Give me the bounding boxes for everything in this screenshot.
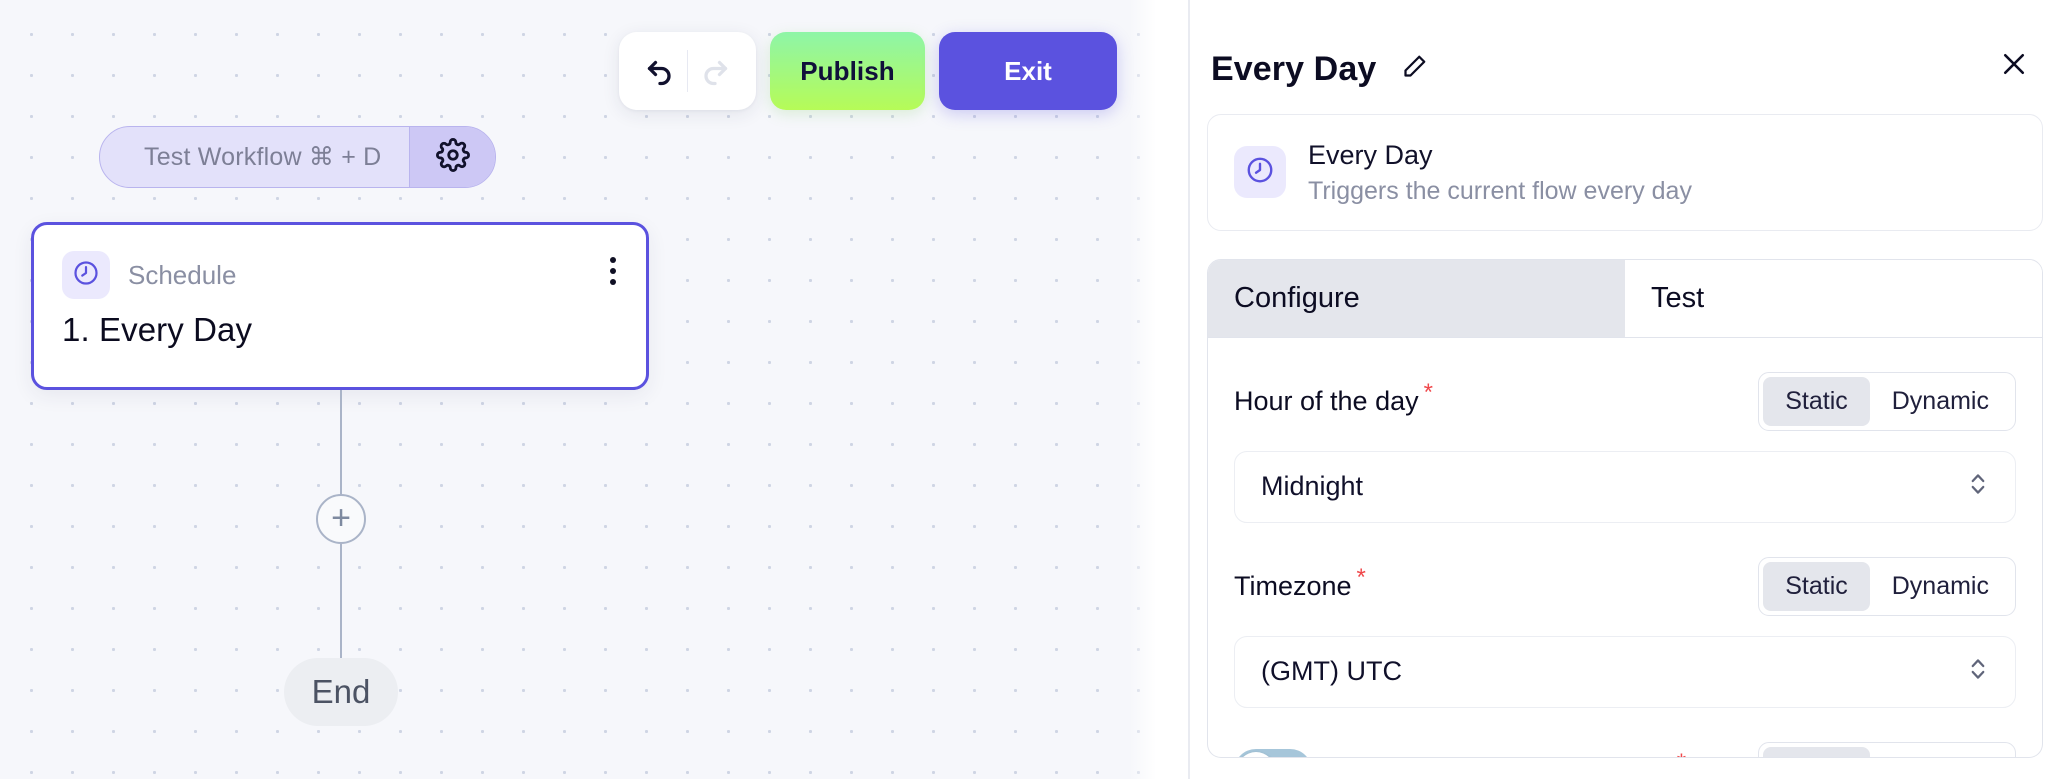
trigger-icon-wrapper xyxy=(1234,146,1286,198)
trigger-description: Triggers the current flow every day xyxy=(1308,177,1692,206)
step-settings-panel: Every Day xyxy=(1155,0,2072,779)
required-asterisk: * xyxy=(1424,379,1433,406)
timezone-select[interactable]: (GMT) UTC xyxy=(1234,636,2016,708)
required-asterisk: * xyxy=(1677,749,1686,758)
field-label-hour-text: Hour of the day xyxy=(1234,386,1419,416)
chevron-up-down-icon xyxy=(1967,654,1989,689)
panel-header: Every Day xyxy=(1155,0,2043,100)
undo-arrow-icon xyxy=(642,52,678,91)
chevron-up-down-icon xyxy=(1967,469,1989,504)
field-label-timezone-text: Timezone xyxy=(1234,571,1352,601)
mode-dynamic-timezone[interactable]: Dynamic xyxy=(1870,562,2011,611)
workflow-editor: Publish Exit Test Workflow ⌘ + D xyxy=(0,0,2072,779)
test-workflow-button[interactable]: Test Workflow ⌘ + D xyxy=(99,126,496,188)
field-label-weekends-text: Run on weekends (Sat,Sun) xyxy=(1334,756,1672,758)
field-label-timezone: Timezone* xyxy=(1234,571,1366,602)
mode-toggle-hour: Static Dynamic xyxy=(1758,372,2016,431)
undo-button[interactable] xyxy=(633,41,687,101)
hour-select[interactable]: Midnight xyxy=(1234,451,2016,523)
tab-test[interactable]: Test xyxy=(1625,260,2042,337)
timezone-select-value: (GMT) UTC xyxy=(1261,656,1402,687)
canvas-toolbar: Publish Exit xyxy=(619,32,1117,110)
exit-button[interactable]: Exit xyxy=(939,32,1117,110)
hour-select-value: Midnight xyxy=(1261,471,1363,502)
mode-static-timezone[interactable]: Static xyxy=(1763,562,1870,611)
gear-icon xyxy=(436,138,470,177)
node-type-icon xyxy=(62,251,110,299)
field-run-on-weekends: Run on weekends (Sat,Sun)* Static Dynami… xyxy=(1234,708,2016,758)
pencil-edit-icon xyxy=(1398,53,1428,86)
redo-arrow-icon xyxy=(697,52,733,91)
clock-icon xyxy=(72,259,100,292)
edge-bottom-segment xyxy=(340,544,342,659)
close-x-icon xyxy=(1999,49,2029,82)
field-label-weekends: Run on weekends (Sat,Sun)* xyxy=(1334,756,1686,758)
configure-fields: Hour of the day* Static Dynamic Midnight xyxy=(1207,338,2043,758)
add-step-button[interactable]: + xyxy=(316,494,366,544)
field-hour-of-the-day: Hour of the day* Static Dynamic Midnight xyxy=(1234,338,2016,523)
rename-step-button[interactable] xyxy=(1394,49,1432,90)
toggle-knob xyxy=(1237,752,1275,758)
node-header: Schedule xyxy=(34,225,646,299)
workflow-canvas[interactable]: Publish Exit Test Workflow ⌘ + D xyxy=(0,0,1155,779)
workflow-node-every-day[interactable]: Schedule 1. Every Day xyxy=(31,222,649,390)
undo-redo-group xyxy=(619,32,756,110)
mode-static-hour[interactable]: Static xyxy=(1763,377,1870,426)
mode-dynamic-weekends[interactable]: Dynamic xyxy=(1870,747,2011,758)
workflow-settings-button[interactable] xyxy=(409,127,495,187)
publish-button[interactable]: Publish xyxy=(770,32,925,110)
field-label-hour: Hour of the day* xyxy=(1234,386,1433,417)
panel-tabs: Configure Test xyxy=(1207,259,2043,338)
field-timezone: Timezone* Static Dynamic (GMT) UTC xyxy=(1234,523,2016,708)
clock-icon xyxy=(1245,155,1275,190)
test-workflow-label: Test Workflow ⌘ + D xyxy=(100,127,409,187)
mode-toggle-weekends: Static Dynamic xyxy=(1758,742,2016,758)
mode-static-weekends[interactable]: Static xyxy=(1763,747,1870,758)
node-kebab-menu-button[interactable] xyxy=(606,253,620,289)
run-on-weekends-toggle[interactable] xyxy=(1234,749,1312,758)
node-title: 1. Every Day xyxy=(34,299,646,349)
node-subtitle: Schedule xyxy=(128,260,236,291)
tab-configure[interactable]: Configure xyxy=(1208,260,1625,337)
required-asterisk: * xyxy=(1357,564,1366,591)
edge-top-segment xyxy=(340,390,342,496)
redo-button[interactable] xyxy=(688,41,742,101)
trigger-name: Every Day xyxy=(1308,139,1692,173)
trigger-summary-card: Every Day Triggers the current flow ever… xyxy=(1207,114,2043,231)
end-node[interactable]: End xyxy=(284,658,398,726)
mode-dynamic-hour[interactable]: Dynamic xyxy=(1870,377,2011,426)
mode-toggle-timezone: Static Dynamic xyxy=(1758,557,2016,616)
panel-title: Every Day xyxy=(1211,50,1376,89)
close-panel-button[interactable] xyxy=(1993,44,2035,86)
kebab-menu-icon xyxy=(610,257,616,263)
